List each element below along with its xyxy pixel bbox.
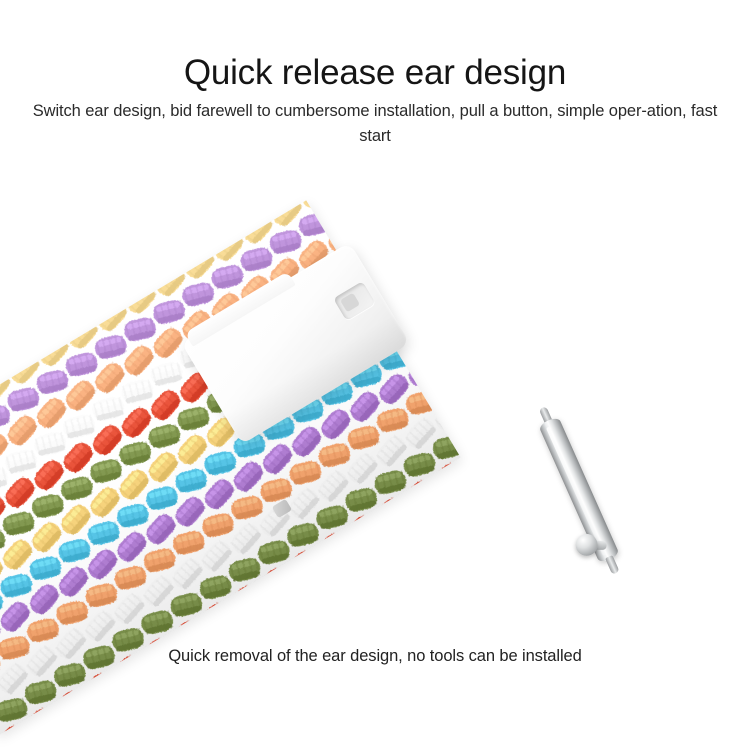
page-title: Quick release ear design xyxy=(0,51,750,95)
page-subtitle: Switch ear design, bid farewell to cumbe… xyxy=(26,99,724,149)
footer-caption: Quick removal of the ear design, no tool… xyxy=(0,644,750,668)
product-feature-image: Quick release ear design Switch ear desi… xyxy=(0,0,750,750)
spring-bar-release-knob xyxy=(576,533,607,558)
release-slot-icon xyxy=(333,281,376,321)
spring-bar-tip-bottom xyxy=(605,555,620,575)
spring-bar-body xyxy=(534,407,624,573)
knob-ball-icon xyxy=(576,534,598,556)
connector-shading xyxy=(225,314,411,444)
spring-bar-tool xyxy=(530,390,720,590)
product-photo xyxy=(0,150,750,620)
